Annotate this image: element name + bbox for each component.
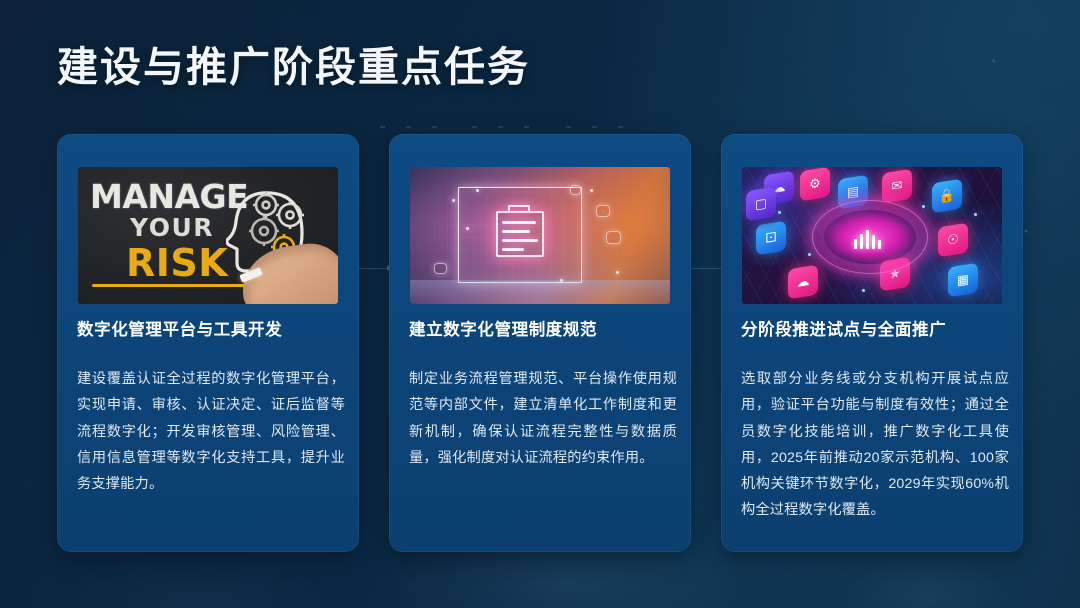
- document-text-line: [502, 239, 538, 242]
- icon-tile: ☉: [938, 223, 968, 258]
- neon-icon-grid-network-image: ☁ ⚙ ▤ ✉ 🔒 ⚀ ☉ ☁ ★ ▦ ▢: [742, 167, 1002, 304]
- chip-icon: [606, 231, 621, 244]
- chalk-text-risk: RISK: [126, 241, 228, 285]
- task-card-1[interactable]: MANAGE YOUR RISK: [57, 134, 359, 552]
- card-row: MANAGE YOUR RISK: [0, 0, 1080, 608]
- icon-tile: ☁: [788, 265, 818, 300]
- icon-tile: ✉: [882, 169, 912, 204]
- slide-canvas: 建设与推广阶段重点任务 MANAGE YOUR RISK: [0, 0, 1080, 608]
- card-heading: 数字化管理平台与工具开发: [77, 320, 343, 341]
- chip-icon: [434, 263, 447, 274]
- card-body: 选取部分业务线或分支机构开展试点应用，验证平台功能与制度有效性；通过全员数字化技…: [741, 366, 1009, 524]
- glowing-document-hologram-image: [410, 167, 670, 304]
- reflection-floor: [410, 280, 670, 304]
- card-heading: 分阶段推进试点与全面推广: [741, 320, 1007, 341]
- chalk-text-your: YOUR: [130, 213, 214, 242]
- card-heading: 建立数字化管理制度规范: [409, 320, 675, 341]
- card-body: 制定业务流程管理规范、平台操作使用规范等内部文件，建立清单化工作制度和更新机制，…: [409, 366, 677, 471]
- document-text-line: [502, 230, 530, 233]
- card-body: 建设覆盖认证全过程的数字化管理平台，实现申请、审核、认证决定、证后监督等流程数字…: [77, 366, 345, 497]
- document-text-line: [502, 248, 524, 251]
- hub-bars-icon: [854, 225, 888, 249]
- task-card-3[interactable]: ☁ ⚙ ▤ ✉ 🔒 ⚀ ☉ ☁ ★ ▦ ▢: [721, 134, 1023, 552]
- chalk-text-manage: MANAGE: [90, 177, 248, 216]
- manage-your-risk-chalkboard-image: MANAGE YOUR RISK: [78, 167, 338, 304]
- document-text-line: [502, 221, 536, 224]
- icon-tile: ⚀: [756, 221, 786, 256]
- icon-tile: ▦: [948, 263, 978, 298]
- task-card-2[interactable]: 建立数字化管理制度规范 制定业务流程管理规范、平台操作使用规范等内部文件，建立清…: [389, 134, 691, 552]
- chip-icon: [570, 185, 581, 195]
- icon-tile: 🔒: [932, 179, 962, 214]
- chip-icon: [596, 205, 610, 217]
- icon-tile: ▢: [746, 187, 776, 222]
- document-tab: [508, 205, 530, 212]
- icon-tile: ⚙: [800, 167, 830, 201]
